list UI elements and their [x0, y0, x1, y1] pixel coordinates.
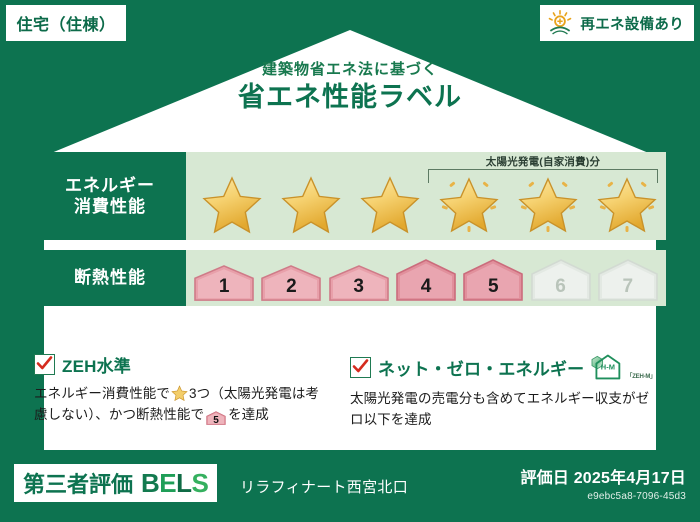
- zeh-standard-body: エネルギー消費性能で3つ（太陽光発電は考慮しない）、かつ断熱性能で5を達成: [34, 384, 322, 428]
- building-name: リラフィナート西宮北口: [240, 476, 408, 497]
- house-level-item: 2: [259, 264, 323, 302]
- third-party-label: 第三者評価: [23, 467, 133, 499]
- net-zero-title: ネット・ゼロ・エネルギー: [378, 355, 584, 380]
- category-tag: 住宅（住棟）: [6, 5, 126, 41]
- energy-label-root: 住宅（住棟） 再エネ設備あり 建築物省エネ法に基づく 省エネ性能ラベル: [0, 0, 700, 522]
- house-badge-5: 5: [462, 258, 524, 302]
- inline-house-badge-icon: 5: [206, 411, 226, 428]
- house-level-item: 7: [596, 258, 660, 302]
- star-sparkle-icon: [515, 172, 581, 234]
- checkmark-icon: [34, 354, 55, 375]
- house-level-item: 5: [461, 258, 525, 302]
- zeh-m-logo-caption: 「ZEH-M」: [626, 371, 656, 382]
- zeh-standard-column: ZEH水準 エネルギー消費性能で3つ（太陽光発電は考慮しない）、かつ断熱性能で5…: [34, 352, 332, 430]
- energy-consumption-label: エネルギー 消費性能: [34, 152, 186, 240]
- energy-consumption-stars-area: 太陽光発電(自家消費)分: [186, 152, 666, 240]
- inline-house-value: 5: [206, 411, 226, 430]
- bels-letter-e: E: [159, 468, 176, 498]
- solar-sun-icon: [546, 9, 574, 37]
- bels-letter-l: L: [176, 468, 191, 498]
- star-icon: [201, 174, 263, 234]
- house-level-number: 5: [488, 277, 499, 302]
- star-item-solar: [587, 152, 666, 240]
- bels-certification-box: 第三者評価 BELS: [14, 464, 217, 502]
- inline-star-icon: [171, 385, 188, 401]
- star-item: [350, 152, 429, 240]
- bels-letter-s: S: [192, 468, 209, 498]
- energy-label-line-2: 消費性能: [74, 196, 146, 217]
- house-badge-3: 3: [328, 264, 390, 302]
- house-level-item: 1: [192, 264, 256, 302]
- energy-label-line-1: エネルギー: [65, 175, 155, 196]
- star-sparkle-icon: [436, 172, 502, 234]
- energy-consumption-row: エネルギー 消費性能: [34, 152, 666, 240]
- house-badge-2: 2: [260, 264, 322, 302]
- evaluation-id: e9ebc5a8-7096-45d3: [520, 491, 686, 502]
- renewable-badge-label: 再エネ設備あり: [580, 13, 684, 34]
- house-level-number: 1: [219, 277, 230, 302]
- title-main: 省エネ性能ラベル: [0, 83, 700, 113]
- insulation-label-text: 断熱性能: [74, 267, 146, 288]
- criteria-info-block: ZEH水準 エネルギー消費性能で3つ（太陽光発電は考慮しない）、かつ断熱性能で5…: [34, 352, 666, 430]
- star-item-solar: [508, 152, 587, 240]
- zeh-standard-header: ZEH水準: [34, 352, 322, 377]
- bels-logo: BELS: [141, 468, 208, 499]
- insulation-label: 断熱性能: [34, 250, 186, 306]
- star-strip: [186, 152, 666, 240]
- category-tag-label: 住宅（住棟）: [16, 11, 115, 35]
- evaluation-info: 評価日 2025年4月17日 e9ebc5a8-7096-45d3: [520, 464, 686, 502]
- evaluation-date: 評価日 2025年4月17日: [520, 464, 686, 488]
- checkmark-icon: [350, 357, 371, 378]
- zeh-m-logo-text: H-M: [601, 363, 615, 372]
- house-level-number: 7: [623, 277, 634, 302]
- bels-letter-b: B: [141, 468, 159, 498]
- star-item: [271, 152, 350, 240]
- net-zero-body: 太陽光発電の売電分も含めてエネルギー収支がゼロ以下を達成: [350, 389, 656, 430]
- net-zero-energy-column: ネット・ゼロ・エネルギー H-M 「ZEH-M」 太陽光発電の売電分も含めてエネ…: [332, 352, 666, 430]
- star-item: [192, 152, 271, 240]
- house-badge-7: 7: [597, 258, 659, 302]
- insulation-levels-area: 1 2: [186, 250, 666, 306]
- zeh-m-logo: H-M 「ZEH-M」: [589, 352, 656, 382]
- zeh-standard-title: ZEH水準: [62, 352, 131, 377]
- zeh-body-part3: を達成: [228, 407, 269, 422]
- performance-rows: エネルギー 消費性能: [34, 152, 666, 306]
- house-level-number: 2: [286, 277, 297, 302]
- house-badge-1: 1: [193, 264, 255, 302]
- title-subtitle: 建築物省エネ法に基づく: [0, 62, 700, 79]
- zeh-body-part1: エネルギー消費性能で: [34, 386, 170, 401]
- star-icon: [280, 174, 342, 234]
- house-level-number: 4: [421, 277, 432, 302]
- insulation-row: 断熱性能 1: [34, 250, 666, 306]
- house-badge-4: 4: [395, 258, 457, 302]
- renewable-energy-badge: 再エネ設備あり: [540, 5, 694, 41]
- star-sparkle-icon: [594, 172, 660, 234]
- house-badge-6: 6: [530, 258, 592, 302]
- house-level-number: 3: [353, 277, 364, 302]
- zeh-star-count: 3つ: [189, 386, 210, 401]
- house-level-item: 6: [528, 258, 592, 302]
- star-icon: [359, 174, 421, 234]
- label-footer: 第三者評価 BELS リラフィナート西宮北口 評価日 2025年4月17日 e9…: [0, 454, 700, 522]
- star-item-solar: [429, 152, 508, 240]
- house-level-number: 6: [555, 277, 566, 302]
- house-level-item: 3: [327, 264, 391, 302]
- zeh-m-house-icon: H-M: [589, 352, 625, 382]
- label-title-block: 建築物省エネ法に基づく 省エネ性能ラベル: [0, 62, 700, 112]
- house-level-item: 4: [394, 258, 458, 302]
- net-zero-header: ネット・ゼロ・エネルギー H-M 「ZEH-M」: [350, 352, 656, 382]
- house-level-strip: 1 2: [186, 250, 666, 306]
